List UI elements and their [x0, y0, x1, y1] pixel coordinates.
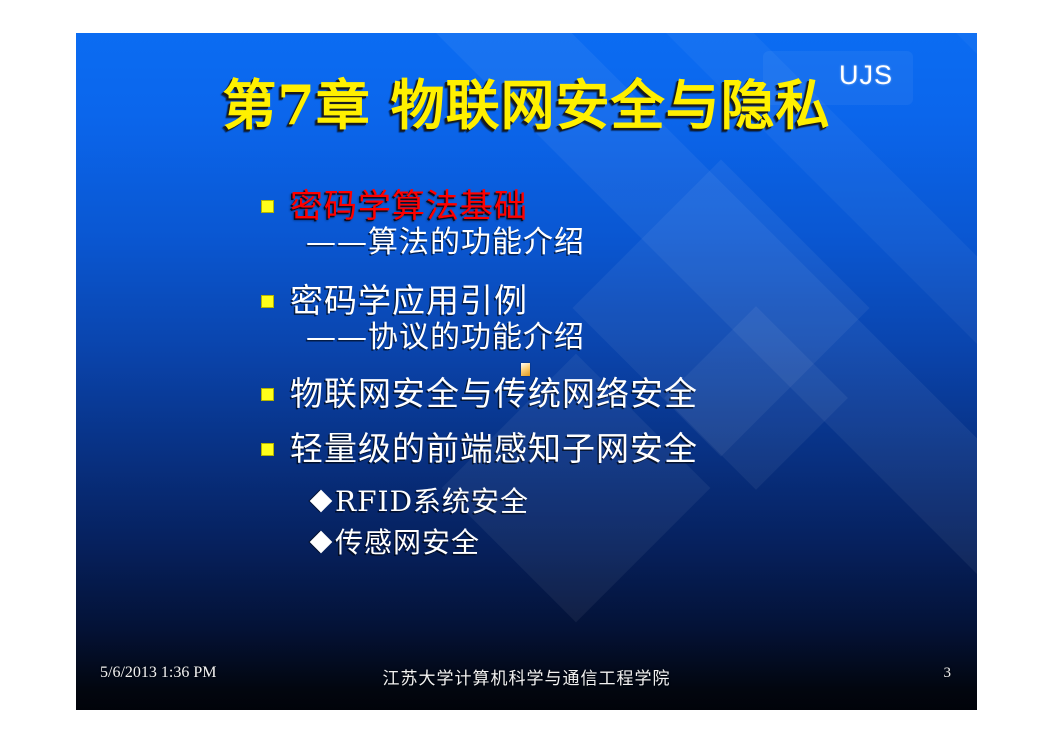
list-item[interactable]: 密码学应用引例 ——协议的功能介绍 [261, 280, 961, 357]
sub-bullet-list: RFID系统安全 传感网安全 [313, 484, 961, 560]
diamond-bullet-icon [310, 490, 333, 513]
footer-page-number: 3 [944, 665, 952, 682]
diamond-bullet-icon [310, 531, 333, 554]
slide-canvas: UJS 第7章 物联网安全与隐私 密码学算法基础 ——算法的功能介绍 密码学应用… [0, 0, 1052, 744]
bullet-label: 密码学算法基础 [290, 185, 528, 227]
list-item[interactable]: 密码学算法基础 ——算法的功能介绍 [261, 185, 961, 262]
bullet-subtext: ——算法的功能介绍 [306, 223, 961, 262]
list-item[interactable]: 物联网安全与传统网络安全 [261, 373, 961, 415]
sub-list-item[interactable]: 传感网安全 [313, 525, 961, 560]
title-block: 第7章 物联网安全与隐私 [76, 77, 977, 134]
footer-organization: 江苏大学计算机科学与通信工程学院 [76, 664, 977, 689]
page-title: 第7章 物联网安全与隐私 [222, 77, 830, 134]
bullet-label: 轻量级的前端感知子网安全 [290, 428, 698, 470]
slide-footer: 5/6/2013 1:36 PM 江苏大学计算机科学与通信工程学院 3 [76, 664, 977, 690]
list-item[interactable]: 轻量级的前端感知子网安全 [261, 428, 961, 470]
sub-bullet-label: RFID系统安全 [335, 484, 529, 519]
bullet-label: 密码学应用引例 [290, 280, 528, 322]
bullet-list: 密码学算法基础 ——算法的功能介绍 密码学应用引例 ——协议的功能介绍 物联网安… [261, 185, 961, 566]
presentation-slide: UJS 第7章 物联网安全与隐私 密码学算法基础 ——算法的功能介绍 密码学应用… [76, 33, 977, 710]
bullet-label: 物联网安全与传统网络安全 [290, 373, 698, 415]
sub-bullet-label: 传感网安全 [335, 525, 480, 560]
square-bullet-icon [261, 200, 274, 213]
bullet-subtext: ——协议的功能介绍 [306, 318, 961, 357]
sub-list-item[interactable]: RFID系统安全 [313, 484, 961, 519]
mouse-cursor-icon [521, 363, 530, 376]
square-bullet-icon [261, 388, 274, 401]
square-bullet-icon [261, 443, 274, 456]
square-bullet-icon [261, 295, 274, 308]
